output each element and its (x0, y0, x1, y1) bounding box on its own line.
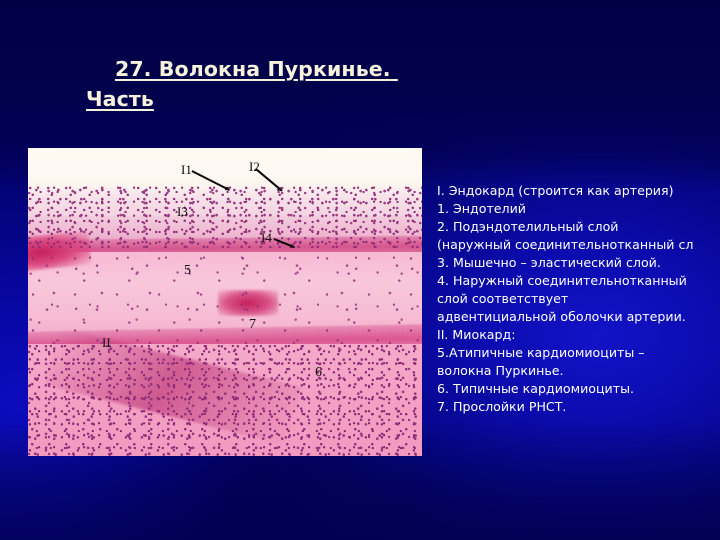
legend-line: 7. Прослойки РНСТ. (437, 398, 720, 416)
figure-label-i2: I2 (249, 160, 260, 173)
figure-label-ii: II (102, 336, 111, 349)
histology-image: I1I2I3I457II6 (28, 148, 422, 456)
figure-label-i3: I3 (177, 205, 188, 218)
figure-label-i1: I1 (181, 163, 192, 176)
legend-line: II. Миокард: (437, 326, 720, 344)
legend-line: I. Эндокард (строится как артерия) (437, 182, 720, 200)
legend-text-block: I. Эндокард (строится как артерия)1. Энд… (437, 182, 720, 416)
title-line-1: 27. Волокна Пуркинье. Часть (86, 57, 398, 111)
legend-line: 3. Мышечно – эластический слой. (437, 254, 720, 272)
legend-line: слой соответствует (437, 290, 720, 308)
figure-label-i4: I4 (261, 231, 272, 244)
figure-label-5: 5 (184, 264, 191, 278)
legend-line: волокна Пуркинье. (437, 362, 720, 380)
legend-line: 2. Подэндотелильный слой (437, 218, 720, 236)
legend-line: 1. Эндотелий (437, 200, 720, 218)
legend-line: 5.Атипичные кардиомиоциты – (437, 344, 720, 362)
legend-line: 6. Типичные кардиомиоциты. (437, 380, 720, 398)
tissue-grain-overlay (28, 148, 422, 456)
figure-label-6: 6 (315, 366, 322, 380)
legend-line: 4. Наружный соединительнотканный (437, 272, 720, 290)
figure-label-7: 7 (249, 318, 256, 332)
histology-section-render (28, 148, 422, 456)
legend-line: (наружный соединительнотканный сл (437, 236, 720, 254)
legend-line: адвентициальной оболочки артерии. (437, 308, 720, 326)
slide-canvas: 27. Волокна Пуркинье. Часть стенки сердц… (0, 0, 720, 540)
